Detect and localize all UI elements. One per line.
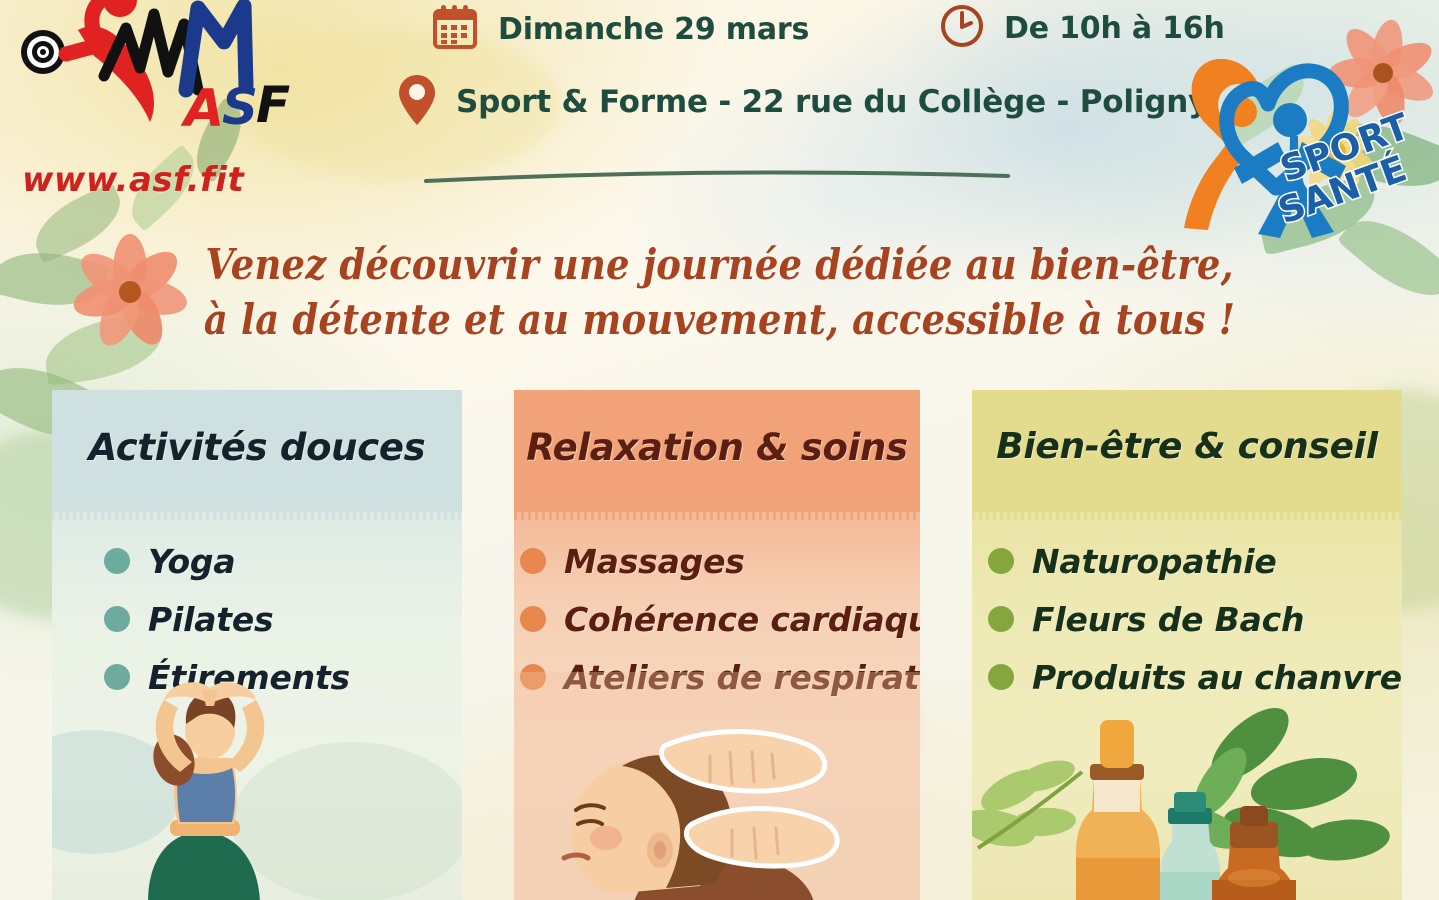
event-location-text: Sport & Forme - 22 rue du Collège - Poli… xyxy=(456,84,1208,120)
list-item[interactable]: Cohérence cardiaque xyxy=(514,590,920,648)
list-item-label: Naturopathie xyxy=(1032,542,1277,581)
map-pin-icon xyxy=(396,72,438,132)
card-title: Relaxation & soins xyxy=(514,426,920,469)
card-relaxation-soins[interactable]: Relaxation & soins Massages Cohérence ca… xyxy=(514,390,920,900)
divider-line xyxy=(424,168,1010,184)
event-date-row: Dimanche 29 mars xyxy=(430,2,809,56)
list-item[interactable]: Pilates xyxy=(52,590,462,648)
card-activites-douces[interactable]: Activités douces Yoga Pilates Étirements xyxy=(52,390,462,900)
card-title: Activités douces xyxy=(52,426,462,469)
sport-sante-logo[interactable]: SPORT SANTÉ xyxy=(1138,38,1408,248)
list-item-label: Fleurs de Bach xyxy=(1032,600,1304,639)
list-item[interactable]: Fleurs de Bach xyxy=(972,590,1402,648)
poster-canvas: A S F www.asf.fit Dimanche 29 mars xyxy=(0,0,1439,900)
card-title: Bien-être & conseil xyxy=(972,426,1402,467)
event-date-text: Dimanche 29 mars xyxy=(498,12,809,47)
natural-oil-bottles-illustration xyxy=(972,672,1402,900)
list-item[interactable]: Massages xyxy=(514,532,920,590)
bullet-dot-icon xyxy=(988,606,1014,632)
tagline: Venez découvrir une journée dédiée au bi… xyxy=(86,238,1352,347)
target-icon xyxy=(21,30,65,74)
svg-text:F: F xyxy=(256,76,290,134)
list-item-label: Cohérence cardiaque xyxy=(564,600,920,639)
list-item[interactable]: Naturopathie xyxy=(972,532,1402,590)
event-location-row: Sport & Forme - 22 rue du Collège - Poli… xyxy=(396,72,1208,132)
list-item[interactable]: Yoga xyxy=(52,532,462,590)
head-massage-illustration xyxy=(514,672,920,900)
bullet-dot-icon xyxy=(988,548,1014,574)
bullet-dot-icon xyxy=(104,548,130,574)
calendar-icon xyxy=(430,2,480,56)
yoga-woman-illustration xyxy=(52,672,462,900)
list-item-label: Yoga xyxy=(148,542,235,581)
list-item-label: Massages xyxy=(564,542,745,581)
list-item-label: Pilates xyxy=(148,600,273,639)
clock-icon xyxy=(938,2,986,54)
bullet-dot-icon xyxy=(104,606,130,632)
bullet-dot-icon xyxy=(520,606,546,632)
website-url[interactable]: www.asf.fit xyxy=(22,160,244,200)
tagline-line-1: Venez découvrir une journée dédiée au bi… xyxy=(205,240,1233,289)
tagline-line-2: à la détente et au mouvement, accessible… xyxy=(86,293,1352,348)
card-bien-etre-conseil[interactable]: Bien-être & conseil Naturopathie Fleurs … xyxy=(972,390,1402,900)
svg-text:S: S xyxy=(222,78,258,136)
svg-text:A: A xyxy=(180,79,224,139)
asf-logo[interactable]: A S F xyxy=(8,0,328,154)
bullet-dot-icon xyxy=(520,548,546,574)
